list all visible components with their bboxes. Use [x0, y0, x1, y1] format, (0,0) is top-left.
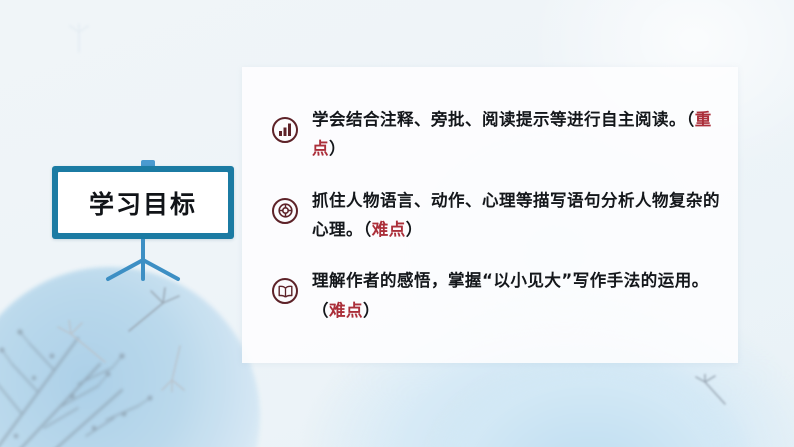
dandelion-seed-icon — [695, 374, 729, 408]
bar-chart-icon — [272, 117, 298, 143]
title-board: 学习目标 — [52, 166, 234, 239]
dandelion-seed-icon — [125, 287, 183, 337]
objectives-list: 学会结合注释、旁批、阅读提示等进行自主阅读。（重点） 抓住人物语 — [242, 67, 738, 363]
board-face: 学习目标 — [58, 172, 228, 233]
objective-text-main: 学会结合注释、旁批、阅读提示等进行自主阅读。（ — [312, 110, 695, 129]
dandelion-seed-icon — [160, 340, 194, 392]
board-tripod-stand-icon — [52, 239, 234, 283]
slide-canvas: 学习目标 学会结合注释、旁批、阅读提示等进行自主阅读。（重 — [0, 0, 794, 447]
dandelion-seed-icon — [55, 320, 107, 364]
list-item: 理解作者的感悟，掌握“以小见大”写作手法的运用。（难点） — [272, 266, 722, 325]
page-title: 学习目标 — [89, 185, 197, 221]
objective-text: 学会结合注释、旁批、阅读提示等进行自主阅读。（重点） — [312, 105, 722, 164]
objective-text: 理解作者的感悟，掌握“以小见大”写作手法的运用。（难点） — [312, 266, 722, 325]
objective-emphasis: 难点 — [372, 220, 406, 239]
blue-blob-decor — [0, 267, 260, 447]
dandelion-seed-icon — [66, 24, 92, 54]
objective-text-tail: ） — [329, 139, 346, 158]
objective-text-tail: ） — [363, 301, 380, 320]
list-item: 抓住人物语言、动作、心理等描写语句分析人物复杂的心理。（难点） — [272, 186, 722, 245]
objective-text-tail: ） — [406, 220, 423, 239]
board-frame: 学习目标 — [52, 166, 234, 239]
lifebuoy-icon — [272, 198, 298, 224]
list-item: 学会结合注释、旁批、阅读提示等进行自主阅读。（重点） — [272, 105, 722, 164]
objectives-panel: 学会结合注释、旁批、阅读提示等进行自主阅读。（重点） 抓住人物语 — [242, 67, 738, 363]
objective-emphasis: 难点 — [329, 301, 363, 320]
branch-silhouette-icon — [0, 286, 197, 447]
open-book-icon — [272, 278, 298, 304]
objective-text: 抓住人物语言、动作、心理等描写语句分析人物复杂的心理。（难点） — [312, 186, 722, 245]
blue-wave-secondary-decor — [424, 352, 754, 447]
